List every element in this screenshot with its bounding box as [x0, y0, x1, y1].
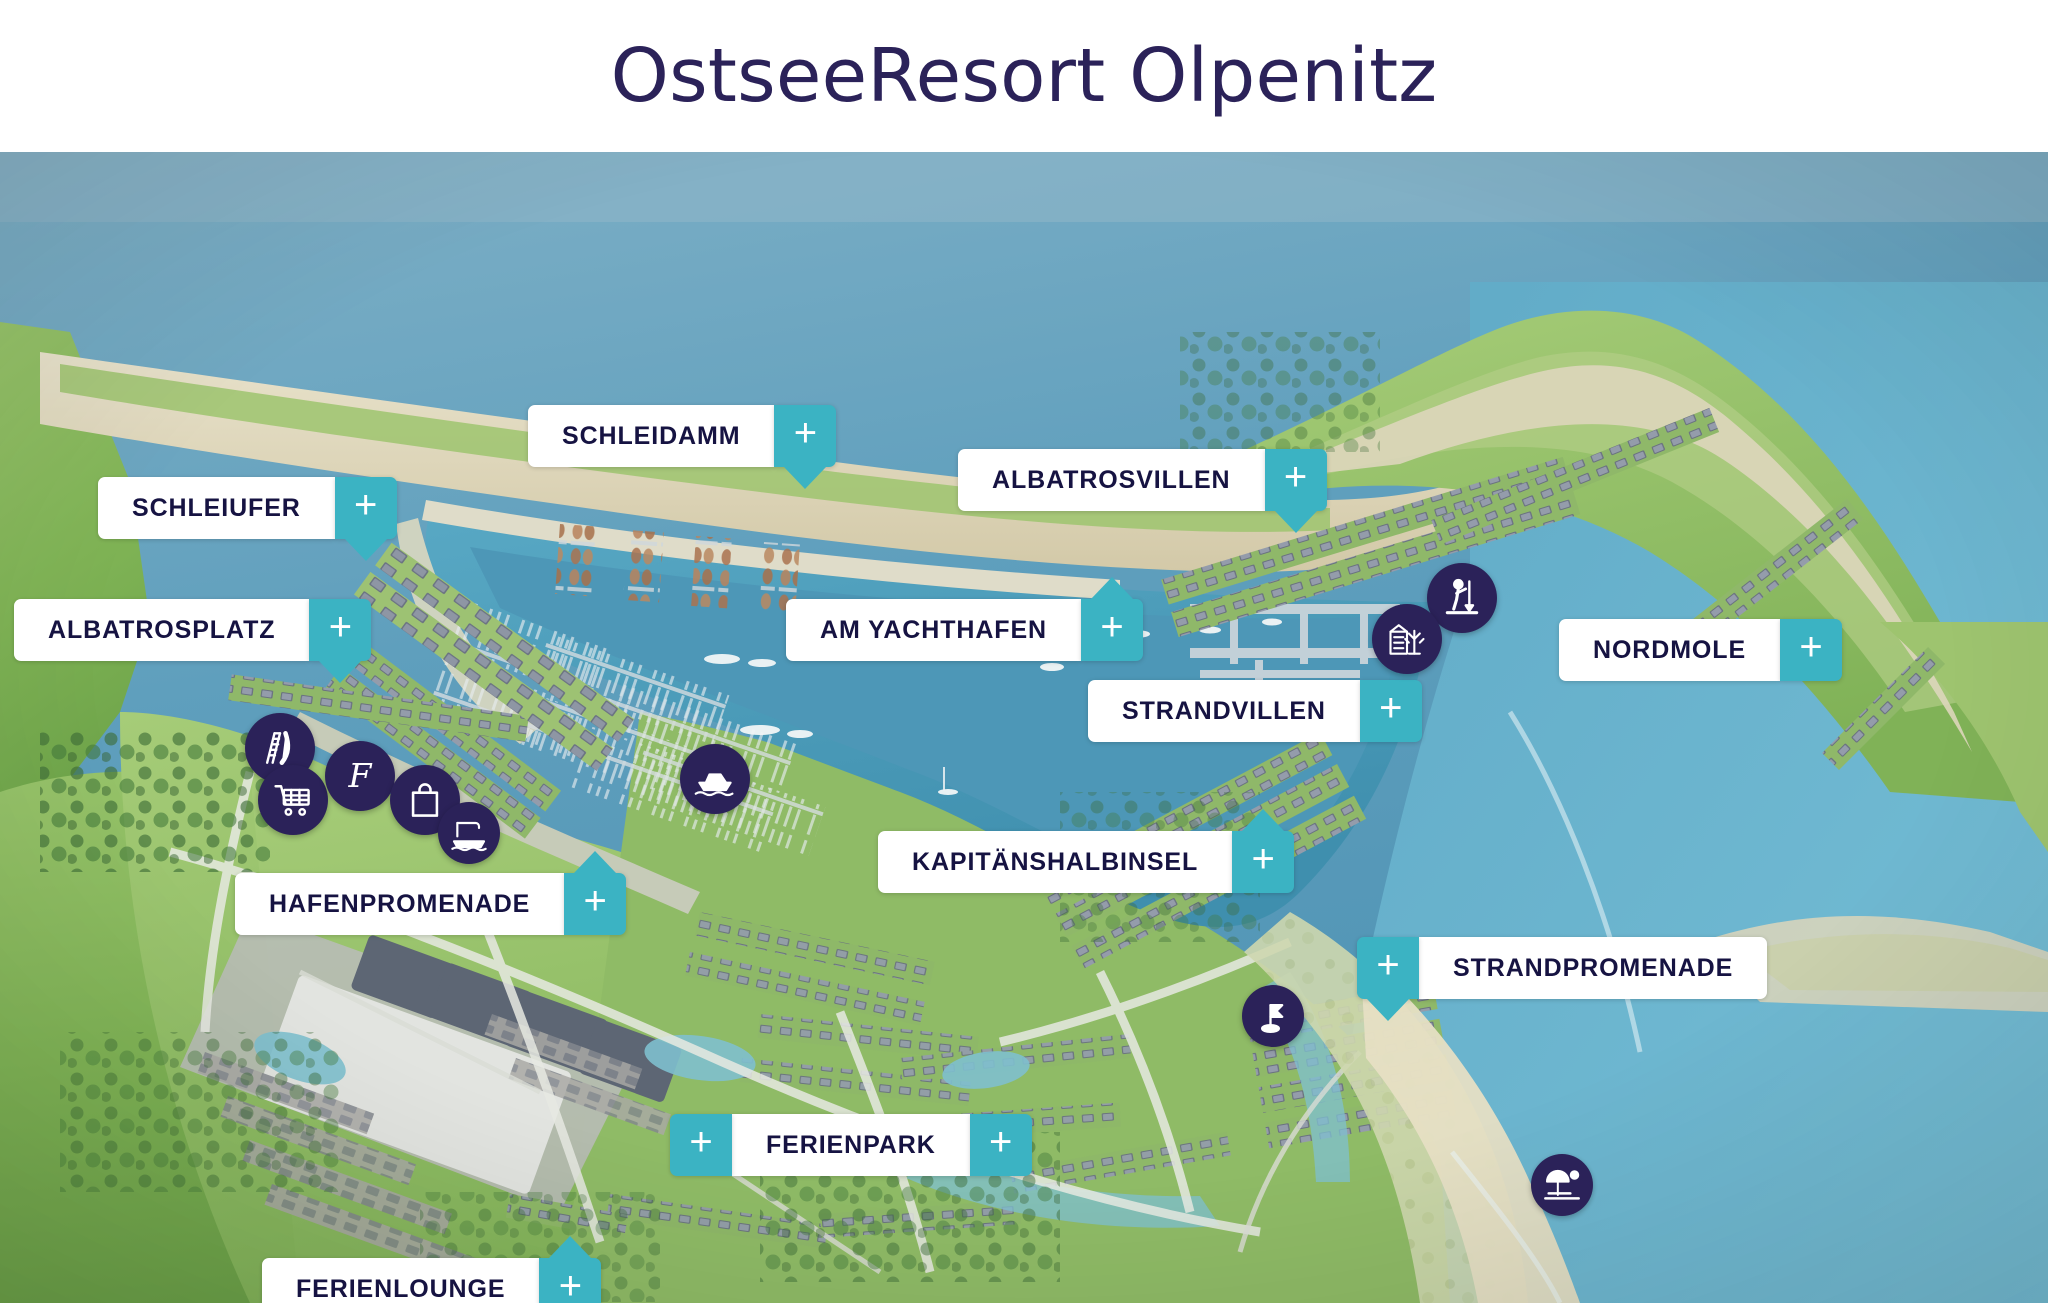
hotspot-label-kapitaenshalbinsel[interactable]: KAPITÄNSHALBINSEL: [878, 831, 1232, 893]
hotspot-albatrosplatz[interactable]: ALBATROSPLATZ+: [14, 599, 371, 661]
hotspot-ferienlounge[interactable]: FERIENLOUNGE+: [262, 1258, 601, 1303]
plus-icon: +: [794, 413, 817, 453]
plus-button-schleiufer[interactable]: +: [335, 477, 397, 539]
plus-button-strandvillen[interactable]: +: [1360, 680, 1422, 742]
plus-icon: +: [1100, 607, 1123, 647]
plus-icon: +: [354, 485, 377, 525]
golf-flag-icon[interactable]: [1242, 985, 1304, 1047]
plus-button-albatrosvillen[interactable]: +: [1265, 449, 1327, 511]
plus-button-nordmole[interactable]: +: [1780, 619, 1842, 681]
plus-icon: +: [1799, 627, 1822, 667]
hotspot-label-schleidamm[interactable]: SCHLEIDAMM: [528, 405, 774, 467]
hotspot-albatrosvillen[interactable]: ALBATROSVILLEN+: [958, 449, 1327, 511]
plus-button-albatrosplatz[interactable]: +: [309, 599, 371, 661]
hotspot-ferienpark[interactable]: +FERIENPARK+: [670, 1114, 1032, 1176]
hotspot-label-ferienpark[interactable]: FERIENPARK: [732, 1114, 970, 1176]
page-title: OstseeResort Olpenitz: [611, 33, 1438, 119]
hotspot-kapitaenshalbinsel[interactable]: KAPITÄNSHALBINSEL+: [878, 831, 1294, 893]
hotspot-label-schleiufer[interactable]: SCHLEIUFER: [98, 477, 335, 539]
plus-icon: +: [1251, 839, 1274, 879]
plus-icon: +: [989, 1122, 1012, 1162]
page-header: OstseeResort Olpenitz: [0, 0, 2048, 152]
plus-icon: +: [1376, 945, 1399, 985]
hotspot-hafenpromenade[interactable]: HAFENPROMENADE+: [235, 873, 626, 935]
hotspot-label-strandvillen[interactable]: STRANDVILLEN: [1088, 680, 1360, 742]
plus-icon: +: [329, 607, 352, 647]
plus-button-ferienpark[interactable]: +: [970, 1114, 1032, 1176]
plus-icon: +: [559, 1266, 582, 1303]
motorboat-icon[interactable]: [680, 744, 750, 814]
plus-button-ferienlounge[interactable]: +: [539, 1258, 601, 1303]
hotspot-label-hafenpromenade[interactable]: HAFENPROMENADE: [235, 873, 564, 935]
plus-button-am-yachthafen[interactable]: +: [1081, 599, 1143, 661]
hotspot-strandvillen[interactable]: STRANDVILLEN+: [1088, 680, 1422, 742]
plus-icon: +: [1379, 688, 1402, 728]
plus-button-ferienpark[interactable]: +: [670, 1114, 732, 1176]
hotspot-label-albatrosplatz[interactable]: ALBATROSPLATZ: [14, 599, 309, 661]
hotspot-strandpromenade[interactable]: +STRANDPROMENADE: [1357, 937, 1767, 999]
plus-icon: +: [689, 1122, 712, 1162]
resort-map[interactable]: SCHLEIDAMM+ALBATROSVILLEN+SCHLEIUFER+ALB…: [0, 152, 2048, 1303]
hotspot-label-strandpromenade[interactable]: STRANDPROMENADE: [1419, 937, 1767, 999]
hotspot-label-nordmole[interactable]: NORDMOLE: [1559, 619, 1780, 681]
hotspot-label-ferienlounge[interactable]: FERIENLOUNGE: [262, 1258, 539, 1303]
plus-button-schleidamm[interactable]: +: [774, 405, 836, 467]
hotspot-label-am-yachthafen[interactable]: AM YACHTHAFEN: [786, 599, 1081, 661]
hotspot-am-yachthafen[interactable]: AM YACHTHAFEN+: [786, 599, 1143, 661]
hotspot-label-albatrosvillen[interactable]: ALBATROSVILLEN: [958, 449, 1265, 511]
plus-button-hafenpromenade[interactable]: +: [564, 873, 626, 935]
plus-button-strandpromenade[interactable]: +: [1357, 937, 1419, 999]
hotspot-schleiufer[interactable]: SCHLEIUFER+: [98, 477, 397, 539]
plus-icon: +: [1284, 457, 1307, 497]
svg-text:F: F: [348, 756, 373, 795]
beach-umbrella-icon[interactable]: [1531, 1154, 1593, 1216]
shopping-cart-icon[interactable]: [258, 765, 328, 835]
page-root: OstseeResort Olpenitz: [0, 0, 2048, 1303]
market-hall-icon[interactable]: [1372, 604, 1442, 674]
plus-button-kapitaenshalbinsel[interactable]: +: [1232, 831, 1294, 893]
boat-slipway-icon[interactable]: [438, 802, 500, 864]
hotspot-schleidamm[interactable]: SCHLEIDAMM+: [528, 405, 836, 467]
plus-icon: +: [584, 881, 607, 921]
hotspot-nordmole[interactable]: NORDMOLE+: [1559, 619, 1842, 681]
restaurant-f-icon[interactable]: F: [325, 741, 395, 811]
